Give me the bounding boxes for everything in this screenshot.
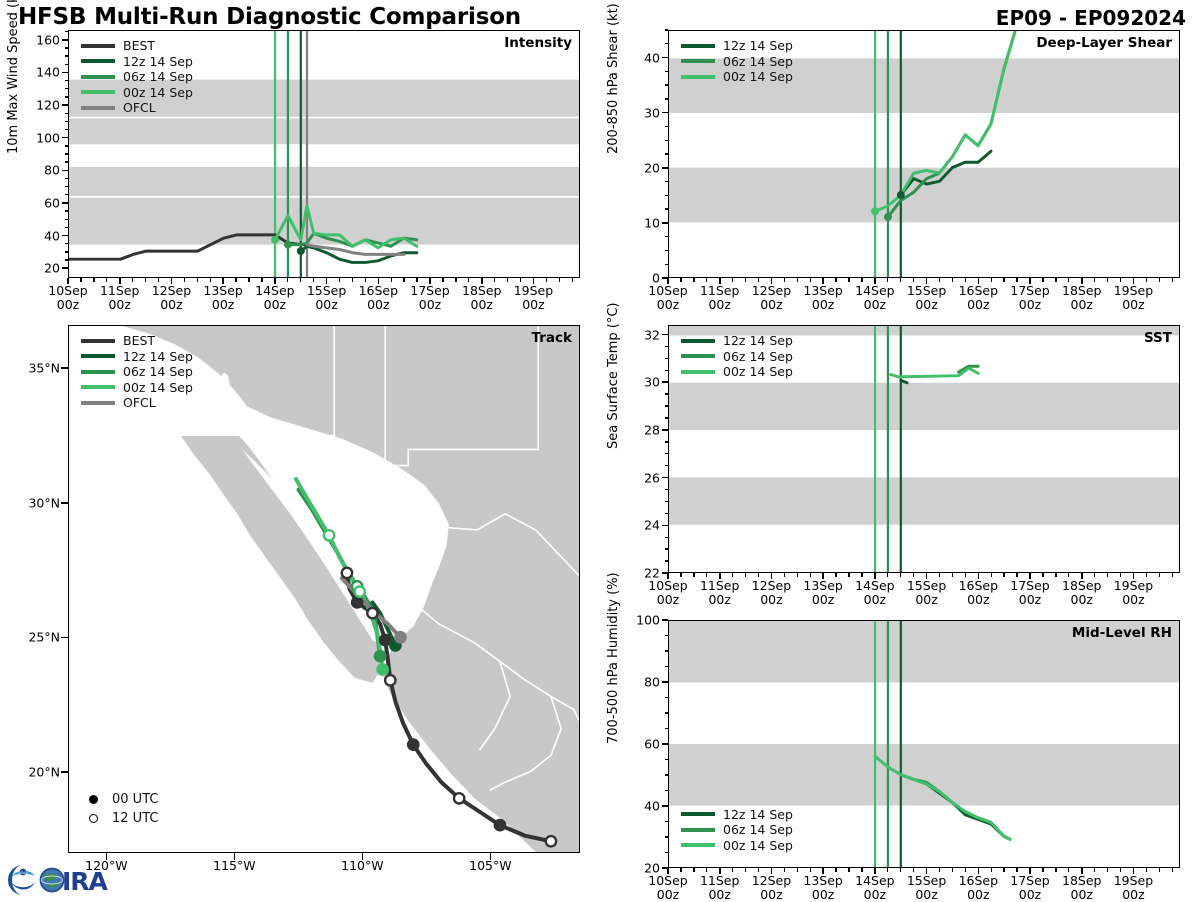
axis-tick-y: 28 [626, 422, 660, 437]
axis-tick-x: 19Sep00z [1114, 284, 1153, 312]
map-border [240, 417, 250, 436]
axis-minor-tick-x [913, 573, 914, 577]
panel-intensity[interactable]: IntensityBEST12z 14 Sep06z 14 Sep00z 14 … [68, 30, 580, 278]
axis-tick-x-day: 15Sep [907, 284, 946, 298]
axis-minor-tick-y [65, 243, 69, 244]
intensity-band [69, 118, 579, 144]
axis-tick-x-hour: 00z [1062, 298, 1101, 312]
legend-label: 00z 14 Sep [723, 839, 793, 852]
axis-minor-tick-y [665, 489, 669, 490]
axis-minor-tick-x [680, 573, 681, 577]
axis-minor-tick-x [991, 868, 992, 872]
axis-minor-tick-x [1133, 573, 1134, 577]
axis-tick-x: 16Sep00z [959, 579, 998, 607]
axis-minor-tick-x [1042, 278, 1043, 282]
axis-minor-tick-y [665, 821, 669, 822]
axis-minor-tick-x [1107, 868, 1108, 872]
axis-tick-x: 18Sep00z [1062, 284, 1101, 312]
axis-minor-tick-x [848, 868, 849, 872]
axis-tick-x-day: 18Sep [1062, 579, 1101, 593]
axis-minor-tick-y [665, 635, 669, 636]
axis-minor-tick-x [1133, 278, 1134, 282]
legend-item: 00z 14 Sep [681, 364, 793, 380]
axis-tick-lat: 20°N [12, 765, 60, 780]
panel-rh[interactable]: Mid-Level RH12z 14 Sep06z 14 Sep00z 14 S… [668, 620, 1180, 868]
axis-tick-x-day: 11Sep [700, 579, 739, 593]
axis-minor-tick-x [939, 573, 940, 577]
axis-minor-tick-x [1120, 278, 1121, 282]
axis-minor-tick-x [822, 868, 823, 872]
track-marker-12utc [454, 793, 464, 803]
axis-minor-tick-x [758, 868, 759, 872]
axis-minor-tick-y [665, 29, 669, 30]
axis-minor-tick-x [313, 278, 314, 282]
axis-tick-x: 18Sep00z [1062, 874, 1101, 902]
axis-minor-tick-y [665, 167, 669, 168]
axis-minor-tick-y [65, 129, 69, 130]
axis-tick-x: 12Sep00z [752, 284, 791, 312]
axis-minor-tick-x [1146, 573, 1147, 577]
legend-swatch [81, 370, 115, 374]
axis-tick-x-day: 12Sep [752, 874, 791, 888]
axis-minor-tick-x [913, 868, 914, 872]
axis-minor-tick-x [965, 278, 966, 282]
axis-tick-x-hour: 00z [462, 298, 501, 312]
axis-minor-tick-y [665, 453, 669, 454]
axis-tick-x: 11Sep00z [700, 579, 739, 607]
legend-item: 06z 14 Sep [681, 54, 793, 70]
axis-minor-tick-y [665, 84, 669, 85]
axis-tick-x: 15Sep00z [907, 284, 946, 312]
axis-tick-y: 140 [26, 65, 60, 80]
axis-minor-tick-x [719, 573, 720, 577]
axis-minor-tick-y [665, 681, 669, 682]
axis-minor-tick-x [210, 278, 211, 282]
axis-tick-x-day: 17Sep [1010, 284, 1049, 298]
series-start-marker [871, 207, 879, 215]
axis-minor-tick-y [65, 202, 69, 203]
axis-minor-tick-y [665, 619, 669, 620]
legend-label: 06z 14 Sep [723, 55, 793, 68]
axis-minor-tick-y [665, 836, 669, 837]
axis-minor-tick-x [1120, 573, 1121, 577]
axis-tick-mark-lat [61, 637, 68, 639]
axis-tick-y: 20 [26, 261, 60, 276]
legend-label: 12z 14 Sep [723, 39, 793, 52]
legend-label: 12z 14 Sep [723, 334, 793, 347]
axis-minor-tick-x [1159, 278, 1160, 282]
axis-minor-tick-x [991, 573, 992, 577]
axis-minor-tick-x [1146, 278, 1147, 282]
legend-swatch [681, 843, 715, 847]
axis-tick-x: 13Sep00z [803, 284, 842, 312]
axis-tick-mark-lon [106, 853, 108, 860]
axis-tick-x: 10Sep00z [48, 284, 87, 312]
axis-tick-y: 80 [26, 163, 60, 178]
legend-swatch [81, 90, 115, 94]
axis-minor-tick-y [665, 650, 669, 651]
legend-label: BEST [123, 39, 155, 52]
axis-minor-tick-x [719, 278, 720, 282]
axis-minor-tick-x [939, 868, 940, 872]
axis-minor-tick-y [65, 194, 69, 195]
axis-minor-tick-x [442, 278, 443, 282]
axis-tick-x-day: 10Sep [648, 284, 687, 298]
legend-intensity: BEST12z 14 Sep06z 14 Sep00z 14 SepOFCL [81, 38, 193, 116]
axis-minor-tick-x [978, 868, 979, 872]
axis-minor-tick-x [810, 278, 811, 282]
axis-minor-tick-x [1172, 573, 1173, 577]
axis-minor-tick-x [235, 278, 236, 282]
axis-tick-x-day: 15Sep [907, 874, 946, 888]
inland-lake [220, 373, 230, 397]
legend-item: 00z 14 Sep [81, 85, 193, 101]
axis-minor-tick-x [455, 278, 456, 282]
axis-minor-tick-x [248, 278, 249, 282]
axis-minor-tick-x [693, 278, 694, 282]
marker-12utc-icon [89, 814, 98, 823]
axis-minor-tick-x [184, 278, 185, 282]
axis-minor-tick-x [1120, 868, 1121, 872]
axis-tick-x-hour: 00z [203, 298, 242, 312]
axis-tick-x: 17Sep00z [1010, 874, 1049, 902]
axis-minor-tick-y [65, 72, 69, 73]
axis-tick-x: 19Sep00z [514, 284, 553, 312]
axis-tick-x-hour: 00z [803, 298, 842, 312]
legend-swatch [681, 75, 715, 79]
track-marker-00utc [352, 597, 362, 607]
axis-minor-tick-x [572, 278, 573, 282]
axis-minor-tick-x [1107, 573, 1108, 577]
axis-minor-tick-y [665, 743, 669, 744]
track-marker-00utc [380, 635, 390, 645]
legend-label: 06z 14 Sep [723, 823, 793, 836]
axis-minor-tick-x [1042, 573, 1043, 577]
axis-minor-tick-x [965, 573, 966, 577]
axis-minor-tick-y [665, 140, 669, 141]
axis-minor-tick-x [1003, 573, 1004, 577]
axis-minor-tick-x [784, 573, 785, 577]
axis-minor-tick-x [887, 278, 888, 282]
axis-minor-tick-x [1055, 278, 1056, 282]
axis-minor-tick-x [680, 868, 681, 872]
legend-item: OFCL [81, 100, 193, 116]
axis-minor-tick-y [665, 728, 669, 729]
axis-minor-tick-x [900, 573, 901, 577]
axis-tick-x-hour: 00z [410, 298, 449, 312]
axis-minor-tick-y [65, 104, 69, 105]
legend-label: 12 UTC [112, 812, 158, 825]
series-start-marker [284, 241, 292, 249]
axis-minor-tick-x [1172, 278, 1173, 282]
axis-tick-x: 17Sep00z [410, 284, 449, 312]
axis-minor-tick-y [665, 548, 669, 549]
axis-tick-x-day: 17Sep [1010, 579, 1049, 593]
axis-minor-tick-y [665, 525, 669, 526]
axis-minor-tick-x [287, 278, 288, 282]
track-marker-00utc [495, 820, 505, 830]
track-marker-12utc [546, 836, 556, 846]
axis-minor-tick-y [65, 113, 69, 114]
map-island [300, 539, 308, 553]
axis-minor-tick-y [665, 513, 669, 514]
axis-tick-x: 13Sep00z [203, 284, 242, 312]
legend-label: BEST [123, 334, 155, 347]
legend-swatch [681, 354, 715, 358]
legend-track-markers: 00 UTC12 UTC [83, 790, 158, 828]
axis-minor-tick-x [1055, 868, 1056, 872]
axis-tick-x-hour: 00z [803, 593, 842, 607]
axis-minor-tick-y [665, 98, 669, 99]
axis-minor-tick-x [171, 278, 172, 282]
axis-tick-x-day: 13Sep [203, 284, 242, 298]
axis-minor-tick-y [665, 334, 669, 335]
axis-tick-x-day: 14Sep [855, 874, 894, 888]
axis-minor-tick-x [520, 278, 521, 282]
axis-minor-tick-y [665, 393, 669, 394]
axis-tick-x: 13Sep00z [803, 874, 842, 902]
page-title: HFSB Multi-Run Diagnostic Comparison [18, 4, 521, 30]
series-start-marker [271, 236, 279, 244]
axis-minor-tick-x [1172, 868, 1173, 872]
legend-item: 12z 14 Sep [681, 38, 793, 54]
legend-swatch [681, 339, 715, 343]
legend-label: 00z 14 Sep [123, 86, 193, 99]
legend-swatch [681, 812, 715, 816]
axis-tick-x-day: 14Sep [855, 579, 894, 593]
axis-minor-tick-x [145, 278, 146, 282]
legend-swatch [681, 44, 715, 48]
axis-tick-x-day: 10Sep [648, 874, 687, 888]
axis-minor-tick-x [494, 278, 495, 282]
axis-tick-x-day: 12Sep [752, 579, 791, 593]
track-marker-00utc [408, 739, 418, 749]
legend-item: 06z 14 Sep [81, 69, 193, 85]
legend-swatch [681, 59, 715, 63]
axis-minor-tick-x [132, 278, 133, 282]
axis-minor-tick-x [339, 278, 340, 282]
axis-tick-y: 20 [626, 160, 660, 175]
axis-minor-tick-x [481, 278, 482, 282]
axis-minor-tick-y [65, 178, 69, 179]
axis-minor-tick-x [861, 868, 862, 872]
axis-minor-tick-y [65, 55, 69, 56]
axis-tick-lon: 105°W [469, 859, 511, 873]
axis-minor-tick-x [965, 868, 966, 872]
axis-minor-tick-x [719, 868, 720, 872]
legend-item: 12z 14 Sep [81, 349, 193, 365]
axis-tick-x-day: 13Sep [803, 874, 842, 888]
axis-minor-tick-x [874, 573, 875, 577]
legend-rh: 12z 14 Sep06z 14 Sep00z 14 Sep [681, 807, 793, 854]
axis-tick-x-hour: 00z [152, 298, 191, 312]
axis-minor-tick-y [665, 346, 669, 347]
axis-minor-tick-x [106, 278, 107, 282]
axis-tick-x-day: 17Sep [1010, 874, 1049, 888]
axis-minor-tick-x [429, 278, 430, 282]
axis-minor-tick-y [65, 39, 69, 40]
axis-minor-tick-x [745, 573, 746, 577]
legend-swatch [81, 339, 115, 343]
axis-minor-tick-y [65, 251, 69, 252]
axis-minor-tick-x [533, 278, 534, 282]
axis-tick-y: 24 [626, 518, 660, 533]
axis-tick-mark-lon [490, 853, 492, 860]
legend-item: BEST [81, 38, 193, 54]
axis-tick-x-day: 10Sep [48, 284, 87, 298]
axis-tick-y: 32 [626, 327, 660, 342]
axis-minor-tick-x [197, 278, 198, 282]
axis-minor-tick-x [352, 278, 353, 282]
legend-label: OFCL [123, 396, 156, 409]
axis-tick-y: 26 [626, 470, 660, 485]
axis-minor-tick-x [1016, 278, 1017, 282]
axis-minor-tick-x [822, 573, 823, 577]
legend-label: 00z 14 Sep [723, 70, 793, 83]
axis-minor-tick-y [665, 405, 669, 406]
axis-minor-tick-y [665, 370, 669, 371]
axis-minor-tick-y [665, 537, 669, 538]
legend-item: 06z 14 Sep [681, 349, 793, 365]
axis-minor-tick-y [665, 195, 669, 196]
axis-minor-tick-y [665, 181, 669, 182]
axis-tick-x: 14Sep00z [855, 579, 894, 607]
axis-tick-x: 16Sep00z [959, 284, 998, 312]
axis-minor-tick-x [326, 278, 327, 282]
legend-item: 12z 14 Sep [681, 333, 793, 349]
legend-swatch [81, 75, 115, 79]
axis-minor-tick-y [65, 227, 69, 228]
axis-minor-tick-x [667, 868, 668, 872]
panel-shear[interactable]: Deep-Layer Shear12z 14 Sep06z 14 Sep00z … [668, 30, 1180, 278]
legend-label: 06z 14 Sep [123, 365, 193, 378]
legend-label: 06z 14 Sep [723, 350, 793, 363]
axis-tick-x: 14Sep00z [255, 284, 294, 312]
axis-minor-tick-x [771, 573, 772, 577]
legend-shear: 12z 14 Sep06z 14 Sep00z 14 Sep [681, 38, 793, 85]
axis-minor-tick-y [65, 145, 69, 146]
legend-label: 12z 14 Sep [123, 55, 193, 68]
intensity-band [669, 383, 1179, 430]
axis-tick-x-day: 15Sep [307, 284, 346, 298]
axis-minor-tick-x [797, 278, 798, 282]
legend-track: BEST12z 14 Sep06z 14 Sep00z 14 SepOFCL [81, 333, 193, 411]
legend-item: OFCL [81, 395, 193, 411]
axis-tick-x-day: 16Sep [359, 284, 398, 298]
axis-minor-tick-x [1029, 868, 1030, 872]
storm-identifier: EP09 - EP092024 [996, 6, 1186, 30]
axis-minor-tick-x [1081, 573, 1082, 577]
axis-minor-tick-y [65, 88, 69, 89]
axis-tick-lon: 110°W [341, 859, 383, 873]
axis-minor-tick-x [1016, 573, 1017, 577]
axis-minor-tick-x [1133, 868, 1134, 872]
axis-minor-tick-x [745, 278, 746, 282]
axis-minor-tick-x [758, 573, 759, 577]
axis-minor-tick-x [887, 573, 888, 577]
axis-tick-x-hour: 00z [700, 298, 739, 312]
axis-minor-tick-y [665, 429, 669, 430]
legend-swatch [81, 59, 115, 63]
axis-tick-y: 60 [26, 195, 60, 210]
axis-tick-lat: 35°N [12, 361, 60, 376]
panel-sst[interactable]: SST12z 14 Sep06z 14 Sep00z 14 Sep [668, 325, 1180, 573]
axis-minor-tick-x [1068, 868, 1069, 872]
series-start-marker [297, 247, 305, 255]
axis-minor-tick-y [65, 137, 69, 138]
axis-tick-x: 15Sep00z [907, 874, 946, 902]
intensity-band [669, 477, 1179, 524]
axis-minor-tick-x [468, 278, 469, 282]
axis-tick-mark-lon [362, 853, 364, 860]
axis-minor-tick-x [693, 868, 694, 872]
track-marker-12utc [367, 608, 377, 618]
axis-tick-x-day: 19Sep [1114, 579, 1153, 593]
legend-label: 12z 14 Sep [723, 808, 793, 821]
axis-minor-tick-x [887, 868, 888, 872]
axis-minor-tick-x [93, 278, 94, 282]
axis-minor-tick-y [65, 96, 69, 97]
track-marker-12utc [385, 675, 395, 685]
axis-minor-tick-y [65, 210, 69, 211]
axis-minor-tick-x [861, 278, 862, 282]
track-marker-00utc [377, 664, 387, 674]
axis-minor-tick-x [667, 573, 668, 577]
axis-tick-x: 12Sep00z [752, 579, 791, 607]
series-start-marker [884, 213, 892, 221]
axis-tick-x-day: 19Sep [514, 284, 553, 298]
axis-minor-tick-x [693, 573, 694, 577]
axis-minor-tick-x [706, 278, 707, 282]
legend-item: 12z 14 Sep [681, 807, 793, 823]
axis-tick-x-hour: 00z [1114, 298, 1153, 312]
axis-minor-tick-x [1081, 868, 1082, 872]
axis-tick-x: 11Sep00z [700, 284, 739, 312]
axis-minor-tick-y [665, 759, 669, 760]
axis-minor-tick-x [810, 573, 811, 577]
axis-minor-tick-x [680, 278, 681, 282]
axis-tick-x-day: 18Sep [462, 284, 501, 298]
legend-item: BEST [81, 333, 193, 349]
panel-track[interactable]: TrackBEST12z 14 Sep06z 14 Sep00z 14 SepO… [68, 325, 580, 853]
axis-minor-tick-x [1094, 573, 1095, 577]
axis-minor-tick-y [665, 805, 669, 806]
axis-minor-tick-x [1055, 573, 1056, 577]
axis-minor-tick-x [119, 278, 120, 282]
series-start-marker [897, 191, 905, 199]
axis-tick-x-hour: 00z [752, 593, 791, 607]
legend-swatch [81, 106, 115, 110]
axis-minor-tick-y [665, 666, 669, 667]
axis-tick-x: 15Sep00z [307, 284, 346, 312]
axis-minor-tick-x [1159, 868, 1160, 872]
axis-minor-tick-y [65, 80, 69, 81]
axis-tick-x-hour: 00z [752, 298, 791, 312]
axis-minor-tick-y [665, 208, 669, 209]
marker-00utc-icon [89, 795, 98, 804]
legend-item: 00z 14 Sep [681, 838, 793, 854]
axis-tick-x-day: 16Sep [959, 874, 998, 888]
axis-minor-tick-x [158, 278, 159, 282]
axis-tick-x-hour: 00z [907, 593, 946, 607]
track-marker-12utc [342, 568, 352, 578]
legend-label: 12z 14 Sep [123, 350, 193, 363]
axis-tick-x-hour: 00z [648, 593, 687, 607]
axis-minor-tick-y [65, 170, 69, 171]
axis-minor-tick-x [1042, 868, 1043, 872]
axis-minor-tick-x [848, 278, 849, 282]
axis-minor-tick-x [1107, 278, 1108, 282]
